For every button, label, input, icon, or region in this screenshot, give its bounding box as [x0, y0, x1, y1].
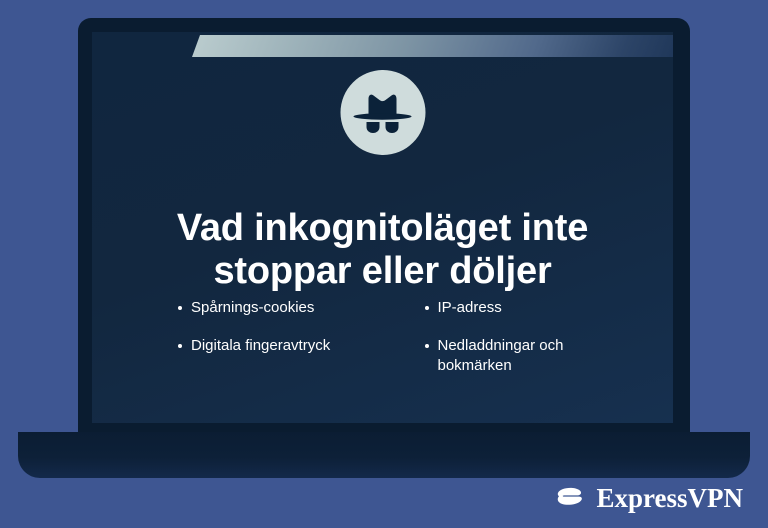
expressvpn-e-icon [553, 481, 587, 515]
bullet-column-right: IP-adress Nedladdningar och bokmärken [425, 298, 624, 394]
list-item: Digitala fingeravtryck [178, 336, 377, 356]
bullet-columns: Spårnings-cookies Digitala fingeravtryck… [178, 298, 623, 394]
brand-name: ExpressVPN [596, 485, 743, 512]
laptop-screen: Vad inkognitoläget inte stoppar eller dö… [92, 32, 673, 423]
expressvpn-logo: ExpressVPN [553, 481, 743, 515]
incognito-hat-glasses-icon [340, 70, 425, 155]
list-item: IP-adress [425, 298, 624, 318]
slide-canvas: Vad inkognitoläget inte stoppar eller dö… [0, 0, 768, 528]
list-item: Nedladdningar och bokmärken [425, 336, 624, 376]
laptop-base [18, 432, 750, 478]
bullet-column-left: Spårnings-cookies Digitala fingeravtryck [178, 298, 377, 394]
slide-content: Vad inkognitoläget inte stoppar eller dö… [92, 32, 673, 423]
list-item: Spårnings-cookies [178, 298, 377, 318]
page-title: Vad inkognitoläget inte stoppar eller dö… [132, 207, 633, 293]
